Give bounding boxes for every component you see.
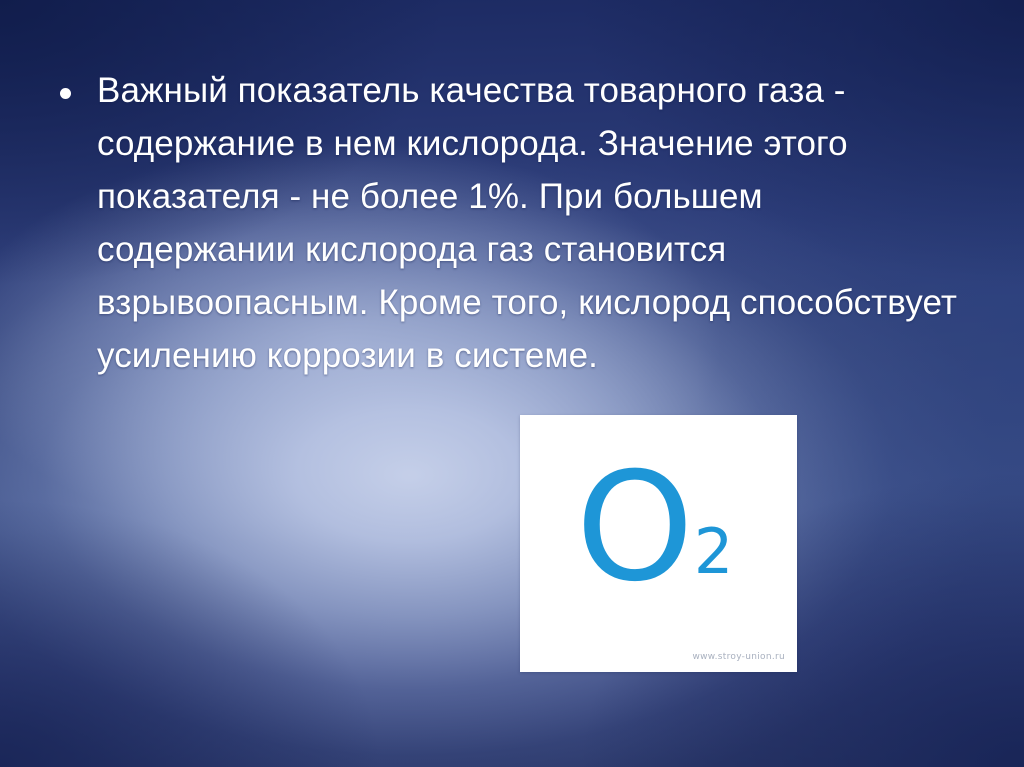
presentation-slide: Важный показатель качества товарного газ…	[0, 0, 1024, 767]
slide-content: Важный показатель качества товарного газ…	[0, 0, 1024, 767]
bullet-list-item: Важный показатель качества товарного газ…	[60, 64, 960, 382]
bullet-point-icon	[60, 88, 71, 99]
o2-logo-area: O 2	[520, 453, 797, 603]
bullet-body-text: Важный показатель качества товарного газ…	[97, 64, 960, 382]
o2-formula: O 2	[576, 470, 734, 587]
o2-letter-glyph: O	[576, 470, 692, 587]
oxygen-o2-logo-image: O 2 www.stroy-union.ru	[520, 415, 797, 672]
o2-subscript-glyph: 2	[694, 521, 733, 583]
image-watermark-text: www.stroy-union.ru	[692, 652, 785, 662]
